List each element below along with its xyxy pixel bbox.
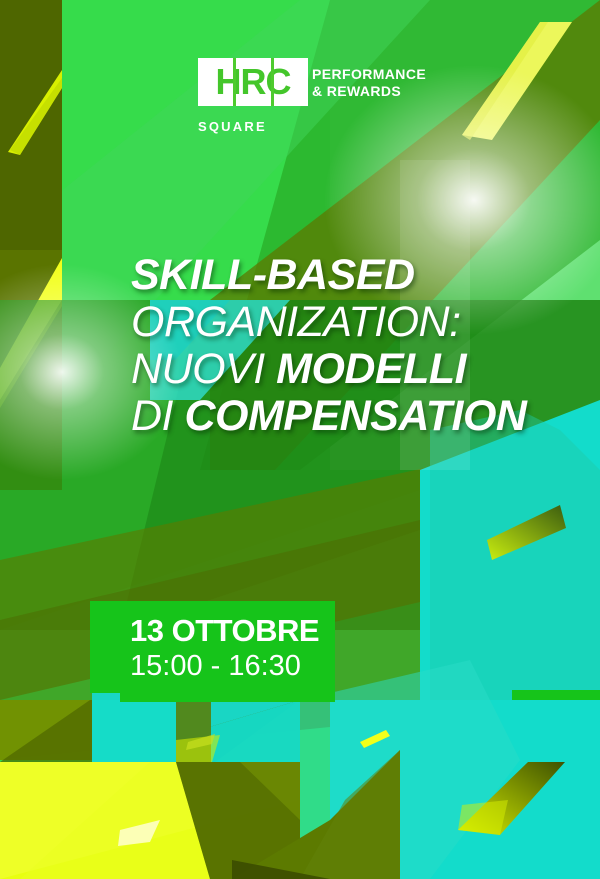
headline-line-4: DI COMPENSATION [131,393,571,440]
headline-line-3: NUOVI MODELLI [131,346,571,393]
hrc-logo-text: HRC [216,64,291,100]
tagline-line-2: & REWARDS [312,83,426,100]
event-time: 15:00 - 16:30 [130,652,301,681]
logo-square-label: SQUARE [198,120,267,133]
logo-divider-2 [271,58,274,106]
headline-line-1: SKILL-BASED [131,252,571,299]
event-date: 13 OTTOBRE [130,615,319,646]
headline-line-3-part-2: MODELLI [276,345,466,393]
tagline-line-1: PERFORMANCE [312,66,426,83]
event-date-panel: 13 OTTOBRE 15:00 - 16:30 [90,601,335,693]
hrc-logo-mark: HRC [198,58,308,106]
headline-line-4-part-1: DI [131,392,184,440]
headline-line-4-part-2: COMPENSATION [184,392,526,440]
headline-line-3-part-1: NUOVI [131,345,276,393]
logo-divider-1 [233,58,236,106]
page-title: SKILL-BASED ORGANIZATION: NUOVI MODELLI … [131,252,571,440]
event-poster: HRC SQUARE PERFORMANCE & REWARDS SKILL-B… [0,0,600,879]
hrc-logo: HRC [198,58,308,106]
logo-tagline: PERFORMANCE & REWARDS [312,66,426,100]
headline-line-2: ORGANIZATION: [131,299,571,346]
